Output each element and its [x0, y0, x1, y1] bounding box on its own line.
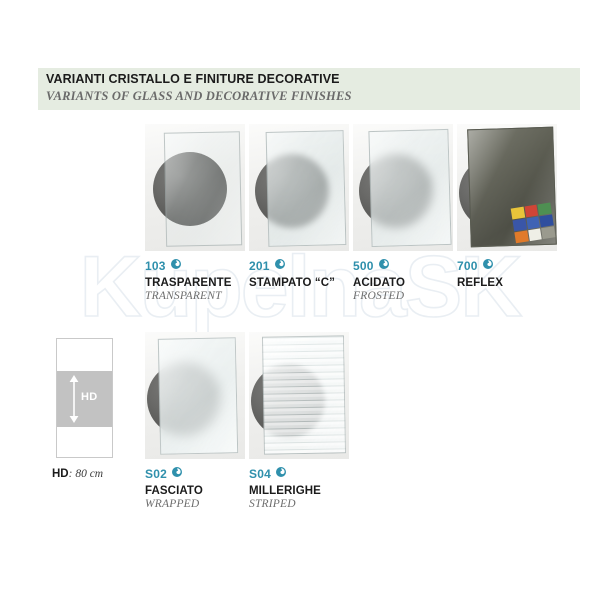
glass-drop-icon	[482, 257, 494, 275]
sample-name: MILLERIGHE	[249, 485, 321, 497]
sample-code: 103	[145, 259, 166, 273]
sample-name-en: WRAPPED	[145, 498, 203, 510]
code-row: S02	[145, 466, 203, 482]
sample-caption-103: 103 TRASPARENTE TRANSPARENT	[145, 258, 232, 302]
page-title: VARIANTI CRISTALLO E FINITURE DECORATIVE	[46, 72, 340, 86]
panel-sheen	[369, 130, 450, 246]
sample-code: 500	[353, 259, 374, 273]
sample-code: 201	[249, 259, 270, 273]
sample-card-s04[interactable]	[249, 332, 349, 459]
sample-card-500[interactable]	[353, 124, 453, 251]
sample-name: STAMPATO “C”	[249, 277, 335, 289]
glass-panel-frosted	[368, 129, 451, 247]
glass-panel-stamped	[266, 130, 347, 247]
code-row: S04	[249, 466, 321, 482]
sample-image-103	[145, 124, 245, 251]
hd-double-arrow-icon	[68, 375, 80, 423]
glass-drop-icon	[170, 257, 182, 275]
glass-drop-icon	[274, 257, 286, 275]
code-row: 201	[249, 258, 335, 274]
glass-drop-icon	[171, 465, 183, 483]
sample-name-en: STRIPED	[249, 498, 321, 510]
sample-name: ACIDATO	[353, 277, 405, 289]
sample-card-s02[interactable]	[145, 332, 245, 459]
sample-card-103[interactable]	[145, 124, 245, 251]
hd-caption: HD: 80 cm	[52, 468, 103, 480]
code-row: 500	[353, 258, 405, 274]
glass-panel-wrapped	[158, 337, 238, 455]
sample-code: S04	[249, 467, 271, 481]
sample-image-s04	[249, 332, 349, 459]
sample-caption-201: 201 STAMPATO “C”	[249, 258, 335, 290]
glass-panel-transparent	[164, 131, 242, 247]
panel-sheen	[263, 336, 345, 453]
sample-caption-s04: S04 MILLERIGHE STRIPED	[249, 466, 321, 510]
sample-name: REFLEX	[457, 277, 503, 289]
sample-name: FASCIATO	[145, 485, 203, 497]
sample-image-201	[249, 124, 349, 251]
sample-code: 700	[457, 259, 478, 273]
sample-image-s02	[145, 332, 245, 459]
sample-name: TRASPARENTE	[145, 277, 232, 289]
page-subtitle: VARIANTS OF GLASS AND DECORATIVE FINISHE…	[46, 89, 352, 104]
hd-label: HD	[81, 391, 98, 403]
hd-height-diagram: HD	[56, 338, 113, 458]
glass-panel-reflex	[467, 127, 557, 248]
color-checker-chart	[511, 203, 556, 244]
panel-sheen	[267, 131, 346, 246]
code-row: 103	[145, 258, 232, 274]
panel-sheen	[165, 132, 241, 246]
sample-caption-500: 500 ACIDATO FROSTED	[353, 258, 405, 302]
sample-name-en: TRANSPARENT	[145, 290, 232, 302]
panel-sheen	[159, 338, 237, 454]
hd-caption-value: : 80 cm	[69, 468, 104, 480]
sample-code: S02	[145, 467, 167, 481]
sample-name-en: FROSTED	[353, 290, 405, 302]
glass-drop-icon	[275, 465, 287, 483]
code-row: 700	[457, 258, 503, 274]
sample-caption-700: 700 REFLEX	[457, 258, 503, 290]
sample-card-201[interactable]	[249, 124, 349, 251]
sample-card-700[interactable]	[457, 124, 557, 251]
sample-image-500	[353, 124, 453, 251]
glass-drop-icon	[378, 257, 390, 275]
sample-caption-s02: S02 FASCIATO WRAPPED	[145, 466, 203, 510]
hd-caption-key: HD	[52, 468, 69, 480]
section-header-band: VARIANTI CRISTALLO E FINITURE DECORATIVE…	[38, 68, 580, 110]
sample-image-700	[457, 124, 557, 251]
glass-panel-striped	[262, 335, 346, 454]
